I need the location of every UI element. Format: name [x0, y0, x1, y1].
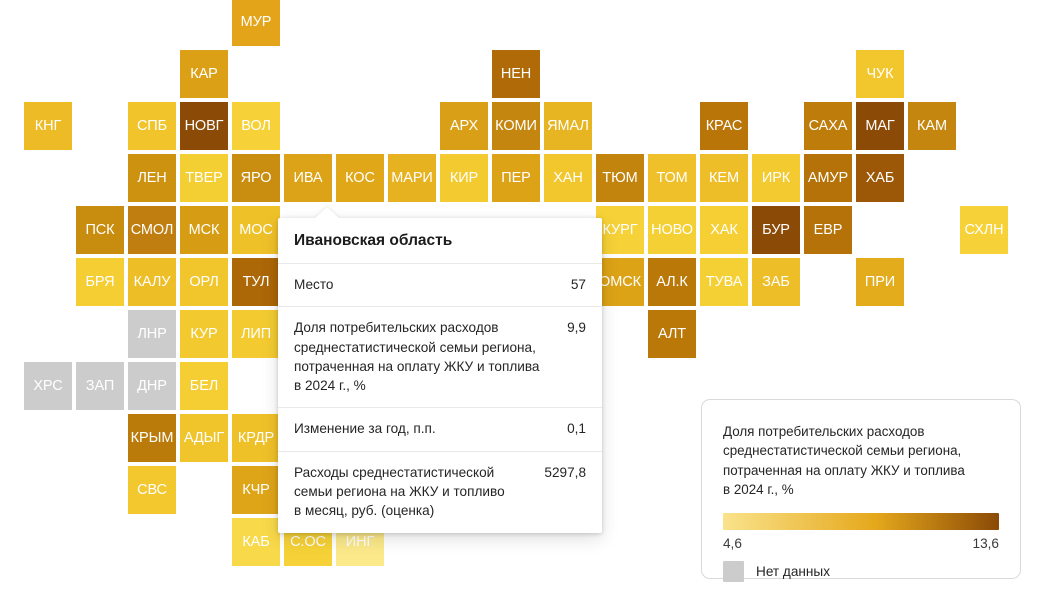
- map-tile-смол[interactable]: СМОЛ: [128, 206, 176, 254]
- map-tile-label: МСК: [189, 222, 220, 238]
- map-tile-тува[interactable]: ТУВА: [700, 258, 748, 306]
- map-tile-бря[interactable]: БРЯ: [76, 258, 124, 306]
- map-tile-том[interactable]: ТОМ: [648, 154, 696, 202]
- map-tile-омск[interactable]: ОМСК: [596, 258, 644, 306]
- tooltip-row-value: 5297,8: [544, 463, 586, 482]
- map-tile-label: ХАН: [553, 170, 583, 186]
- map-tile-label: ПРИ: [865, 274, 895, 290]
- map-tile-новг[interactable]: НОВГ: [180, 102, 228, 150]
- map-tile-label: АЛТ: [658, 326, 686, 342]
- legend-panel: Доля потребительских расходов среднестат…: [701, 399, 1021, 579]
- map-tile-каб[interactable]: КАБ: [232, 518, 280, 566]
- map-tile-label: АМУР: [808, 170, 848, 186]
- map-tile-саха[interactable]: САХА: [804, 102, 852, 150]
- map-tile-label: КОС: [345, 170, 375, 186]
- tooltip-row-value: 9,9: [567, 318, 586, 337]
- map-tile-label: ХАБ: [866, 170, 895, 186]
- map-tile-коми[interactable]: КОМИ: [492, 102, 540, 150]
- map-tile-вол[interactable]: ВОЛ: [232, 102, 280, 150]
- map-tile-пер[interactable]: ПЕР: [492, 154, 540, 202]
- map-tile-label: МОС: [239, 222, 273, 238]
- map-tile-label: ЛНР: [137, 326, 166, 342]
- map-tile-арх[interactable]: АРХ: [440, 102, 488, 150]
- map-tile-алк[interactable]: АЛ.К: [648, 258, 696, 306]
- tooltip-rows: Место57Доля потребительских расходов сре…: [278, 264, 602, 533]
- map-tile-label: ЗАП: [86, 378, 114, 394]
- map-tile-нен[interactable]: НЕН: [492, 50, 540, 98]
- map-tile-хаб[interactable]: ХАБ: [856, 154, 904, 202]
- no-data-swatch-icon: [723, 561, 744, 582]
- map-tile-label: МАРИ: [391, 170, 432, 186]
- map-tile-label: КАЛУ: [134, 274, 171, 290]
- map-tile-label: ОМСК: [599, 274, 641, 290]
- map-tile-label: ЯМАЛ: [547, 118, 589, 134]
- map-tile-label: КАБ: [242, 534, 269, 550]
- tooltip-row-label: Доля потребительских расходов среднестат…: [294, 318, 567, 395]
- map-tile-label: ОРЛ: [189, 274, 218, 290]
- map-tile-label: СВС: [137, 482, 167, 498]
- map-tile-label: ЛЕН: [137, 170, 166, 186]
- map-tile-ямал[interactable]: ЯМАЛ: [544, 102, 592, 150]
- tile-cartogram-page: МУРКАРНЕНЧУККНГСПБНОВГВОЛАРХКОМИЯМАЛКРАС…: [0, 0, 1046, 601]
- map-tile-label: КАР: [190, 66, 218, 82]
- map-tile-label: ЕВР: [814, 222, 843, 238]
- map-tile-label: ПСК: [85, 222, 114, 238]
- map-tile-ива[interactable]: ИВА: [284, 154, 332, 202]
- map-tile-label: КНГ: [35, 118, 61, 134]
- map-tile-крдр[interactable]: КРДР: [232, 414, 280, 462]
- map-tile-label: ХРС: [33, 378, 62, 394]
- legend-min-label: 4,6: [723, 536, 742, 551]
- map-tile-label: КЧР: [242, 482, 269, 498]
- map-tile-кур[interactable]: КУР: [180, 310, 228, 358]
- map-tile-label: ИРК: [762, 170, 790, 186]
- map-tile-тюм[interactable]: ТЮМ: [596, 154, 644, 202]
- legend-max-label: 13,6: [973, 536, 999, 551]
- map-tile-орл[interactable]: ОРЛ: [180, 258, 228, 306]
- map-tile-мари[interactable]: МАРИ: [388, 154, 436, 202]
- legend-no-data-row: Нет данных: [723, 561, 999, 582]
- map-tile-мос[interactable]: МОС: [232, 206, 280, 254]
- map-tile-амур[interactable]: АМУР: [804, 154, 852, 202]
- map-tile-яро[interactable]: ЯРО: [232, 154, 280, 202]
- map-tile-кнг[interactable]: КНГ: [24, 102, 72, 150]
- tooltip-row-label: Расходы среднестатистической семьи регио…: [294, 463, 544, 521]
- map-tile-label: ЯРО: [241, 170, 272, 186]
- map-tile-адыг[interactable]: АДЫГ: [180, 414, 228, 462]
- region-tooltip: Ивановская область Место57Доля потребите…: [278, 218, 602, 533]
- tooltip-row-label: Изменение за год, п.п.: [294, 419, 567, 438]
- map-tile-label: АРХ: [450, 118, 478, 134]
- map-tile-label: САХА: [809, 118, 848, 134]
- map-tile-label: БУР: [762, 222, 790, 238]
- legend-title: Доля потребительских расходов среднестат…: [723, 422, 999, 500]
- map-tile-label: БРЯ: [85, 274, 114, 290]
- tooltip-row: Место57: [278, 264, 602, 307]
- map-tile-label: ХАК: [710, 222, 738, 238]
- map-tile-евр[interactable]: ЕВР: [804, 206, 852, 254]
- legend-gradient-bar: [723, 513, 999, 530]
- tooltip-row-label: Место: [294, 275, 571, 294]
- tooltip-row-value: 0,1: [567, 419, 586, 438]
- map-tile-тул[interactable]: ТУЛ: [232, 258, 280, 306]
- map-tile-label: БЕЛ: [190, 378, 218, 394]
- map-tile-кчр[interactable]: КЧР: [232, 466, 280, 514]
- map-tile-алт[interactable]: АЛТ: [648, 310, 696, 358]
- map-tile-label: КОМИ: [495, 118, 537, 134]
- tooltip-row: Доля потребительских расходов среднестат…: [278, 307, 602, 408]
- map-tile-кам[interactable]: КАМ: [908, 102, 956, 150]
- map-tile-label: ТЮМ: [602, 170, 637, 186]
- map-tile-кар[interactable]: КАР: [180, 50, 228, 98]
- map-tile-хак[interactable]: ХАК: [700, 206, 748, 254]
- map-tile-ново[interactable]: НОВО: [648, 206, 696, 254]
- map-tile-схлн[interactable]: СХЛН: [960, 206, 1008, 254]
- map-tile-label: НОВО: [651, 222, 693, 238]
- map-tile-label: ИВА: [294, 170, 323, 186]
- map-tile-лен[interactable]: ЛЕН: [128, 154, 176, 202]
- map-tile-крас[interactable]: КРАС: [700, 102, 748, 150]
- map-tile-label: МАГ: [865, 118, 894, 134]
- legend-scale: 4,6 13,6: [723, 536, 999, 551]
- map-tile-хрс[interactable]: ХРС: [24, 362, 72, 410]
- map-tile-label: КИР: [450, 170, 478, 186]
- map-tile-label: КУР: [190, 326, 217, 342]
- map-tile-бел[interactable]: БЕЛ: [180, 362, 228, 410]
- map-tile-label: КРЫМ: [131, 430, 174, 446]
- map-tile-label: ТУЛ: [243, 274, 270, 290]
- map-tile-лип[interactable]: ЛИП: [232, 310, 280, 358]
- map-tile-твер[interactable]: ТВЕР: [180, 154, 228, 202]
- map-tile-label: КРДР: [238, 430, 274, 446]
- map-tile-label: ДНР: [137, 378, 167, 394]
- map-tile-label: ЧУК: [866, 66, 893, 82]
- legend-no-data-label: Нет данных: [756, 564, 830, 579]
- map-tile-label: СМОЛ: [131, 222, 174, 238]
- tooltip-row: Расходы среднестатистической семьи регио…: [278, 452, 602, 533]
- map-tile-label: АДЫГ: [184, 430, 224, 446]
- map-tile-при[interactable]: ПРИ: [856, 258, 904, 306]
- map-tile-label: С.ОС: [290, 534, 326, 550]
- map-tile-мур[interactable]: МУР: [232, 0, 280, 46]
- map-tile-мск[interactable]: МСК: [180, 206, 228, 254]
- map-tile-label: ТВЕР: [185, 170, 222, 186]
- tooltip-row-value: 57: [571, 275, 586, 294]
- map-tile-label: ЗАБ: [762, 274, 790, 290]
- map-tile-чук[interactable]: ЧУК: [856, 50, 904, 98]
- map-tile-label: ЛИП: [241, 326, 271, 342]
- tooltip-row: Изменение за год, п.п.0,1: [278, 408, 602, 451]
- map-tile-label: ВОЛ: [241, 118, 271, 134]
- map-tile-кург[interactable]: КУРГ: [596, 206, 644, 254]
- map-tile-спб[interactable]: СПБ: [128, 102, 176, 150]
- map-tile-бур[interactable]: БУР: [752, 206, 800, 254]
- map-tile-свс[interactable]: СВС: [128, 466, 176, 514]
- map-tile-label: КУРГ: [603, 222, 638, 238]
- map-tile-label: НОВГ: [185, 118, 224, 134]
- map-tile-зап[interactable]: ЗАП: [76, 362, 124, 410]
- tooltip-arrow-icon: [314, 207, 340, 219]
- map-tile-калу[interactable]: КАЛУ: [128, 258, 176, 306]
- map-tile-label: КЕМ: [709, 170, 739, 186]
- map-tile-label: ИНГ: [346, 534, 374, 550]
- map-tile-хан[interactable]: ХАН: [544, 154, 592, 202]
- map-tile-label: СХЛН: [965, 222, 1004, 238]
- map-tile-кир[interactable]: КИР: [440, 154, 488, 202]
- map-tile-label: ТУВА: [706, 274, 743, 290]
- map-tile-крым[interactable]: КРЫМ: [128, 414, 176, 462]
- map-tile-пск[interactable]: ПСК: [76, 206, 124, 254]
- map-tile-label: АЛ.К: [656, 274, 688, 290]
- map-tile-ирк[interactable]: ИРК: [752, 154, 800, 202]
- map-tile-label: КАМ: [917, 118, 947, 134]
- map-tile-label: НЕН: [501, 66, 531, 82]
- tooltip-title: Ивановская область: [278, 218, 602, 264]
- map-tile-днр[interactable]: ДНР: [128, 362, 176, 410]
- map-tile-лнр[interactable]: ЛНР: [128, 310, 176, 358]
- map-tile-label: ТОМ: [656, 170, 687, 186]
- map-tile-label: ПЕР: [501, 170, 530, 186]
- map-tile-label: КРАС: [706, 118, 743, 134]
- map-tile-заб[interactable]: ЗАБ: [752, 258, 800, 306]
- map-tile-маг[interactable]: МАГ: [856, 102, 904, 150]
- map-tile-кос[interactable]: КОС: [336, 154, 384, 202]
- map-tile-кем[interactable]: КЕМ: [700, 154, 748, 202]
- map-tile-label: МУР: [241, 14, 272, 30]
- map-tile-label: СПБ: [137, 118, 167, 134]
